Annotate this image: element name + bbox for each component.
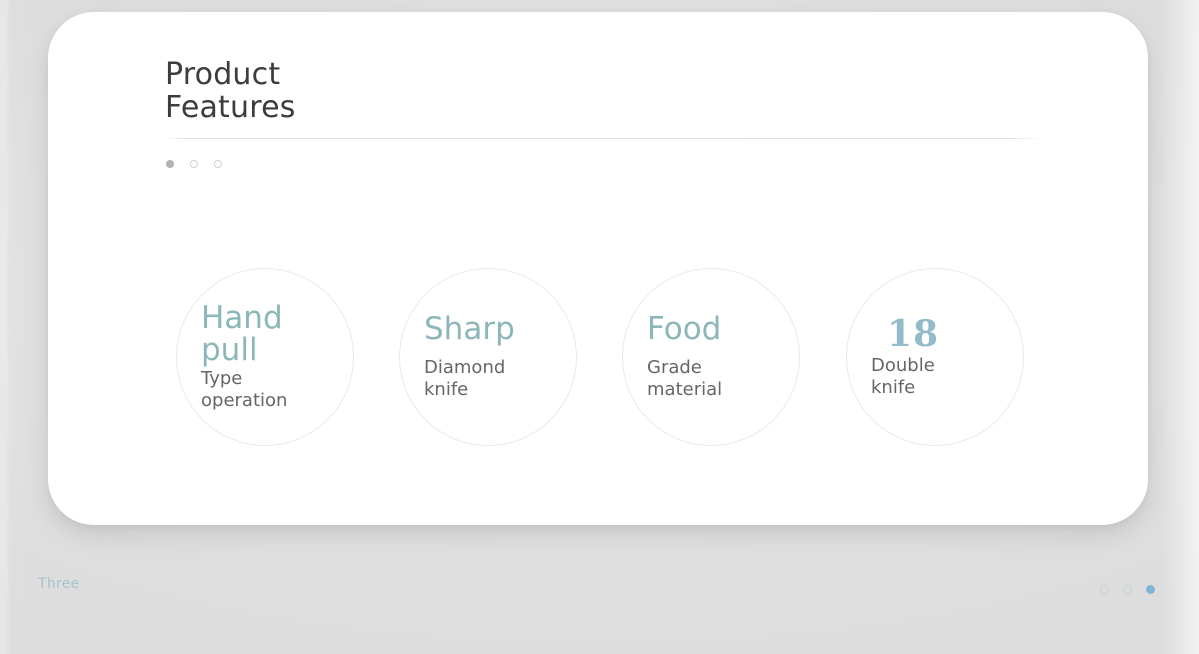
page-title: Product Features — [165, 58, 296, 124]
header-dot-1[interactable] — [166, 160, 174, 168]
feature-circle-group: Hand pull Type operation Sharp Diamond k… — [176, 256, 1086, 460]
feature-headline-number: 18 — [871, 315, 1013, 353]
footer-dot-3[interactable] — [1146, 585, 1155, 594]
feature-headline: Hand pull — [201, 302, 343, 366]
footer-dot-1[interactable] — [1100, 585, 1109, 594]
feature-circle-sharp[interactable]: Sharp Diamond knife — [399, 268, 577, 446]
header-dot-2[interactable] — [190, 160, 198, 168]
slide-canvas: Product Features Hand pull Type operatio… — [0, 0, 1199, 654]
footer-dot-2[interactable] — [1123, 585, 1132, 594]
feature-headline: Sharp — [424, 313, 566, 345]
footer-pagination[interactable] — [1100, 585, 1155, 594]
title-divider — [165, 138, 1038, 139]
feature-circle-hand-pull[interactable]: Hand pull Type operation — [176, 268, 354, 446]
feature-circle-food[interactable]: Food Grade material — [622, 268, 800, 446]
footer-section-label: Three — [38, 576, 80, 592]
feature-subtitle: Double knife — [871, 355, 1013, 399]
feature-circle-double-knife[interactable]: 18 Double knife — [846, 268, 1024, 446]
header-dot-indicator[interactable] — [166, 160, 222, 168]
header-dot-3[interactable] — [214, 160, 222, 168]
feature-subtitle: Type operation — [201, 368, 343, 412]
content-card: Product Features Hand pull Type operatio… — [48, 12, 1148, 525]
feature-subtitle: Diamond knife — [424, 357, 566, 401]
feature-headline: Food — [647, 313, 789, 345]
feature-subtitle: Grade material — [647, 357, 789, 401]
